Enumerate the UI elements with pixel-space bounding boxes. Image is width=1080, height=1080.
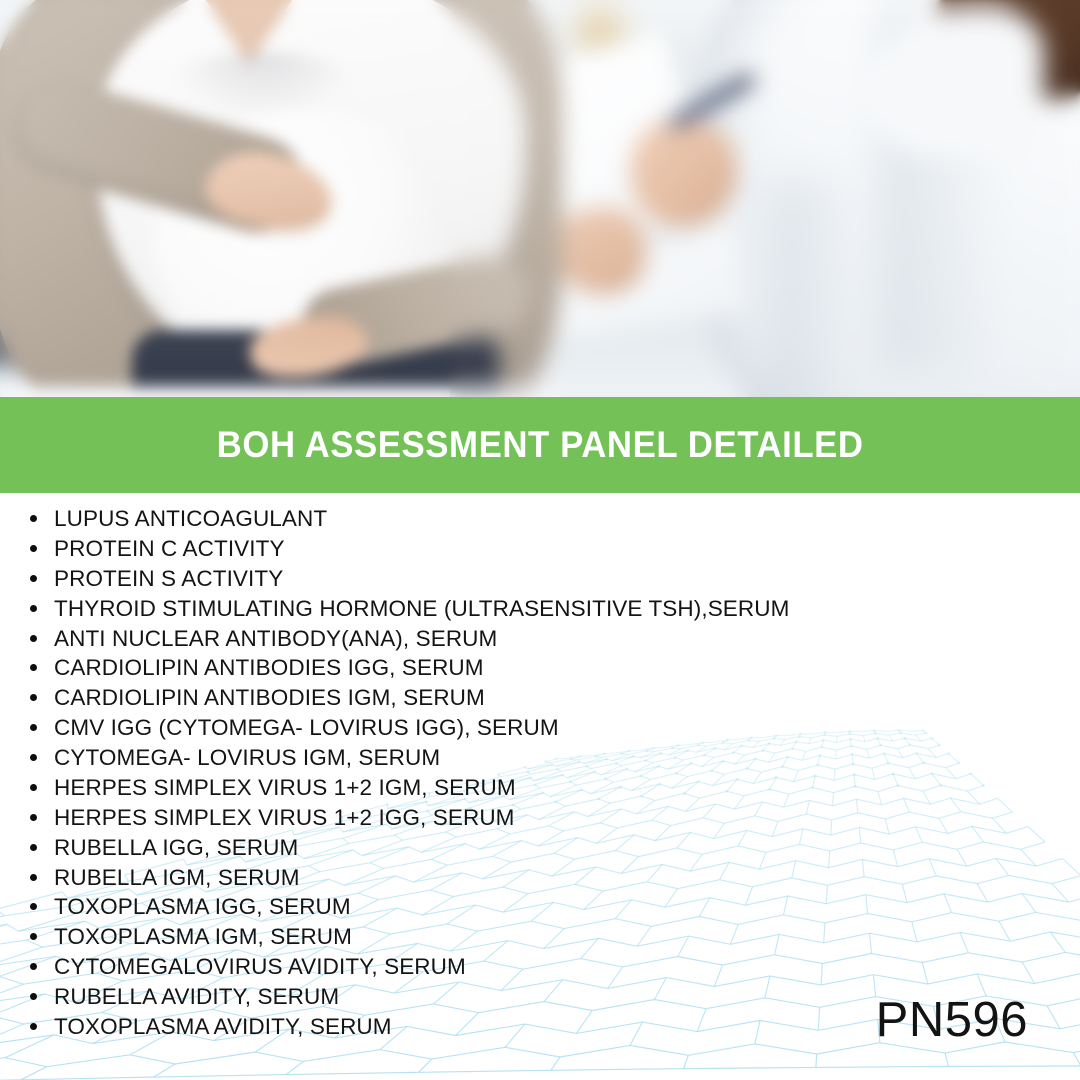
- doctor-hand-holding-clipboard: [556, 208, 646, 294]
- bullet-icon: [30, 754, 37, 761]
- list-item-label: LUPUS ANTICOAGULANT: [54, 508, 327, 531]
- bullet-icon: [30, 724, 37, 731]
- list-item: RUBELLA IGG, SERUM: [30, 837, 298, 860]
- list-item-label: HERPES SIMPLEX VIRUS 1+2 IGM, SERUM: [54, 777, 516, 800]
- list-item-label: TOXOPLASMA AVIDITY, SERUM: [54, 1016, 392, 1039]
- bullet-icon: [30, 963, 37, 970]
- bullet-icon: [30, 605, 37, 612]
- bullet-icon: [30, 694, 37, 701]
- list-item-label: THYROID STIMULATING HORMONE (ULTRASENSIT…: [54, 598, 789, 621]
- bullet-icon: [30, 1023, 37, 1030]
- list-item: CARDIOLIPIN ANTIBODIES IGG, SERUM: [30, 657, 484, 680]
- list-item: CYTOMEGA- LOVIRUS IGM, SERUM: [30, 747, 440, 770]
- list-item: CMV IGG (CYTOMEGA- LOVIRUS IGG), SERUM: [30, 717, 559, 740]
- list-item: RUBELLA AVIDITY, SERUM: [30, 986, 339, 1009]
- header-photo: [0, 0, 1080, 397]
- list-item-label: RUBELLA IGG, SERUM: [54, 837, 298, 860]
- list-item: LUPUS ANTICOAGULANT: [30, 508, 327, 531]
- title-banner: BOH ASSESSMENT PANEL DETAILED: [0, 397, 1080, 493]
- list-item-label: HERPES SIMPLEX VIRUS 1+2 IGG, SERUM: [54, 807, 515, 830]
- bullet-icon: [30, 874, 37, 881]
- bullet-icon: [30, 903, 37, 910]
- list-item: RUBELLA IGM, SERUM: [30, 867, 300, 890]
- product-code: PN596: [876, 992, 1028, 1048]
- list-item: PROTEIN S ACTIVITY: [30, 568, 283, 591]
- list-item: PROTEIN C ACTIVITY: [30, 538, 285, 561]
- bullet-icon: [30, 844, 37, 851]
- list-item-label: RUBELLA IGM, SERUM: [54, 867, 300, 890]
- list-item-label: RUBELLA AVIDITY, SERUM: [54, 986, 339, 1009]
- list-item-label: CARDIOLIPIN ANTIBODIES IGG, SERUM: [54, 657, 484, 680]
- bullet-icon: [30, 575, 37, 582]
- list-item-label: CMV IGG (CYTOMEGA- LOVIRUS IGG), SERUM: [54, 717, 559, 740]
- page-title: BOH ASSESSMENT PANEL DETAILED: [217, 424, 864, 466]
- list-item: HERPES SIMPLEX VIRUS 1+2 IGG, SERUM: [30, 807, 515, 830]
- bullet-icon: [30, 784, 37, 791]
- examination-bench: [0, 386, 560, 397]
- bullet-icon: [30, 515, 37, 522]
- bullet-icon: [30, 635, 37, 642]
- list-item: CARDIOLIPIN ANTIBODIES IGM, SERUM: [30, 687, 485, 710]
- bullet-icon: [30, 664, 37, 671]
- list-item: CYTOMEGALOVIRUS AVIDITY, SERUM: [30, 956, 466, 979]
- list-item: HERPES SIMPLEX VIRUS 1+2 IGM, SERUM: [30, 777, 516, 800]
- list-item-label: PROTEIN C ACTIVITY: [54, 538, 285, 561]
- panel-poster: BOH ASSESSMENT PANEL DETAILED: [0, 0, 1080, 1080]
- list-item: ANTI NUCLEAR ANTIBODY(ANA), SERUM: [30, 628, 497, 651]
- list-item: TOXOPLASMA IGG, SERUM: [30, 896, 351, 919]
- bullet-icon: [30, 545, 37, 552]
- list-item-label: CYTOMEGALOVIRUS AVIDITY, SERUM: [54, 956, 466, 979]
- list-item-label: TOXOPLASMA IGM, SERUM: [54, 926, 352, 949]
- list-item: TOXOPLASMA IGM, SERUM: [30, 926, 352, 949]
- bullet-icon: [30, 993, 37, 1000]
- coat-fold-secondary: [770, 180, 860, 397]
- list-item-label: CYTOMEGA- LOVIRUS IGM, SERUM: [54, 747, 440, 770]
- list-item: TOXOPLASMA AVIDITY, SERUM: [30, 1016, 392, 1039]
- bullet-icon: [30, 814, 37, 821]
- list-item-label: PROTEIN S ACTIVITY: [54, 568, 283, 591]
- list-item: THYROID STIMULATING HORMONE (ULTRASENSIT…: [30, 598, 789, 621]
- list-item-label: ANTI NUCLEAR ANTIBODY(ANA), SERUM: [54, 628, 497, 651]
- list-item-label: CARDIOLIPIN ANTIBODIES IGM, SERUM: [54, 687, 485, 710]
- list-item-label: TOXOPLASMA IGG, SERUM: [54, 896, 351, 919]
- bullet-icon: [30, 933, 37, 940]
